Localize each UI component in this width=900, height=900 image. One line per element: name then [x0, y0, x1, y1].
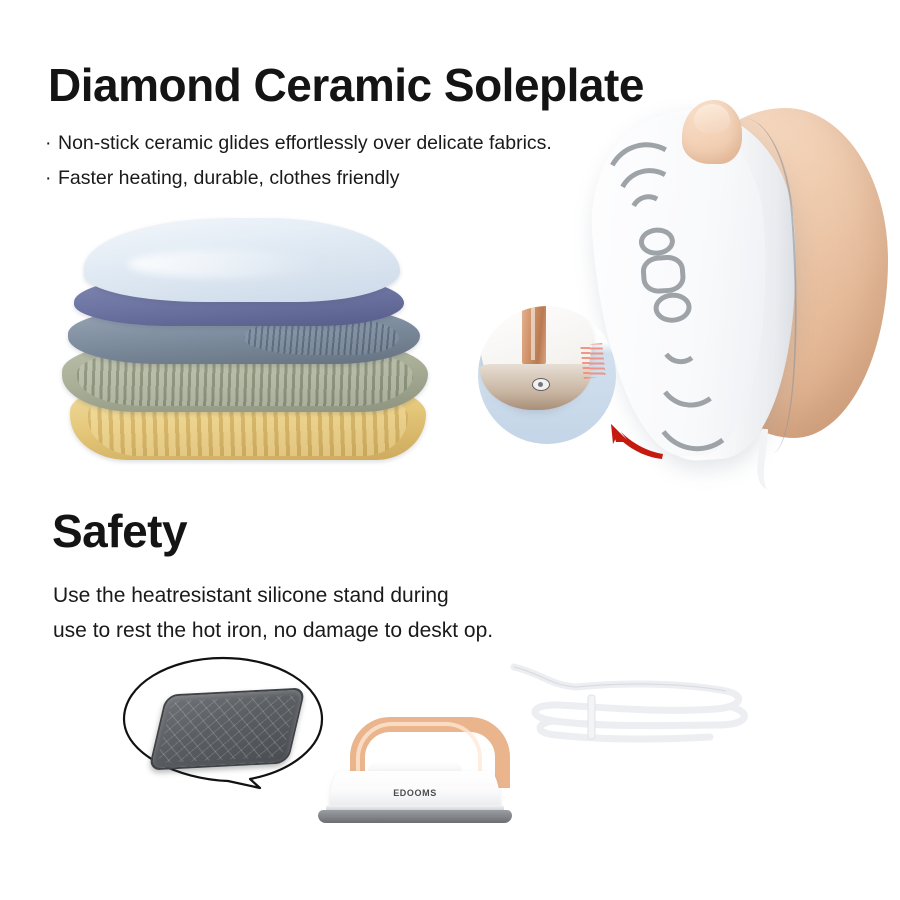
- page-title-safety: Safety: [52, 508, 187, 554]
- red-pointer-arrow-icon: [603, 418, 665, 460]
- bullet-dot-icon: ·: [45, 126, 58, 161]
- safety-line: Use the heatresistant silicone stand dur…: [53, 578, 493, 613]
- soleplate-oval-icon: [653, 291, 693, 324]
- thumbnail: [694, 104, 730, 134]
- folded-clothes-stack-image: [62, 218, 442, 466]
- bullet-text: Non-stick ceramic glides effortlessly ov…: [58, 126, 552, 161]
- garment-light-blue-shirt: [84, 218, 400, 302]
- safety-line: use to rest the hot iron, no damage to d…: [53, 613, 493, 648]
- product-feature-page: Diamond Ceramic Soleplate · Non-stick ce…: [0, 0, 900, 900]
- iron-shell: EDOOMS: [330, 771, 500, 809]
- power-cord-segment: [755, 428, 794, 491]
- list-item: · Non-stick ceramic glides effortlessly …: [45, 126, 552, 161]
- brand-logo: EDOOMS: [330, 788, 500, 798]
- page-title-soleplate: Diamond Ceramic Soleplate: [48, 62, 644, 108]
- soleplate-feature-list: · Non-stick ceramic glides effortlessly …: [45, 126, 552, 196]
- inset-handle-gap: [531, 306, 535, 360]
- bullet-text: Faster heating, durable, clothes friendl…: [58, 161, 399, 196]
- safety-description: Use the heatresistant silicone stand dur…: [53, 578, 493, 648]
- safety-photo: EDOOMS: [120, 655, 880, 865]
- list-item: · Faster heating, durable, clothes frien…: [45, 161, 552, 196]
- bullet-dot-icon: ·: [45, 161, 58, 196]
- silicone-stand-base: [318, 810, 512, 823]
- soleplate-rounded-square-icon: [640, 254, 687, 295]
- ceramic-detail-inset: [478, 306, 616, 444]
- silicone-heat-mat: [148, 687, 306, 770]
- soleplate-oval-icon: [638, 226, 676, 256]
- power-cord: [480, 655, 880, 805]
